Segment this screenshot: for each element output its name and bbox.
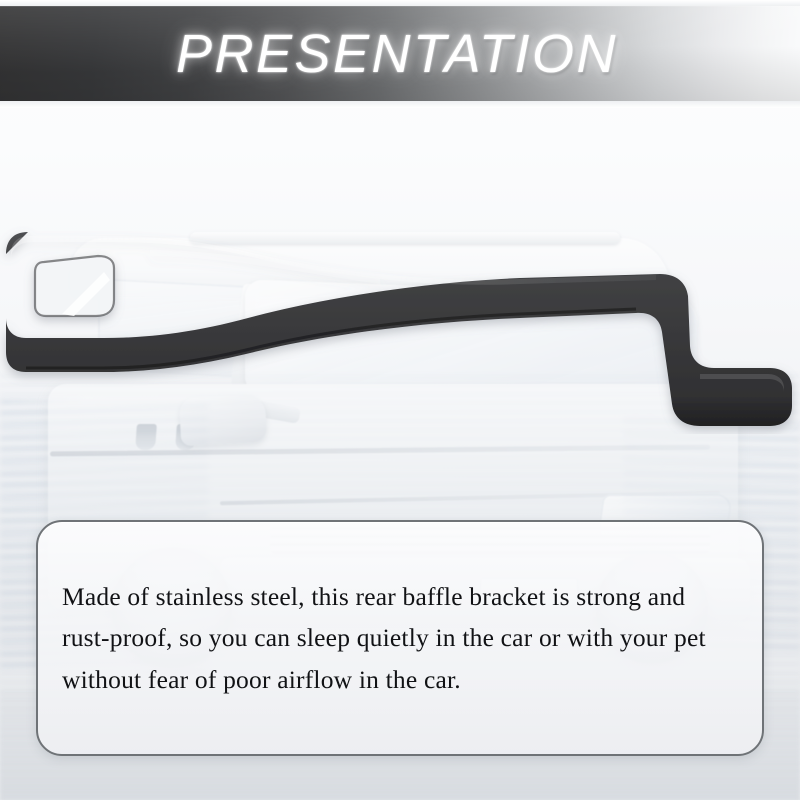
description-text: Made of stainless steel, this rear baffl… — [62, 576, 736, 700]
description-callout-box: Made of stainless steel, this rear baffl… — [36, 520, 764, 756]
vehicle-door-handle — [135, 424, 157, 450]
page-title: PRESENTATION — [0, 6, 800, 101]
banner-bottom-edge — [0, 101, 800, 108]
vehicle-roof-rail — [190, 232, 620, 244]
presentation-slide: PRESENTATION — [0, 0, 800, 800]
header-banner: PRESENTATION — [0, 0, 800, 108]
vehicle-side-window — [98, 278, 248, 378]
vehicle-side-mirror — [179, 394, 267, 446]
